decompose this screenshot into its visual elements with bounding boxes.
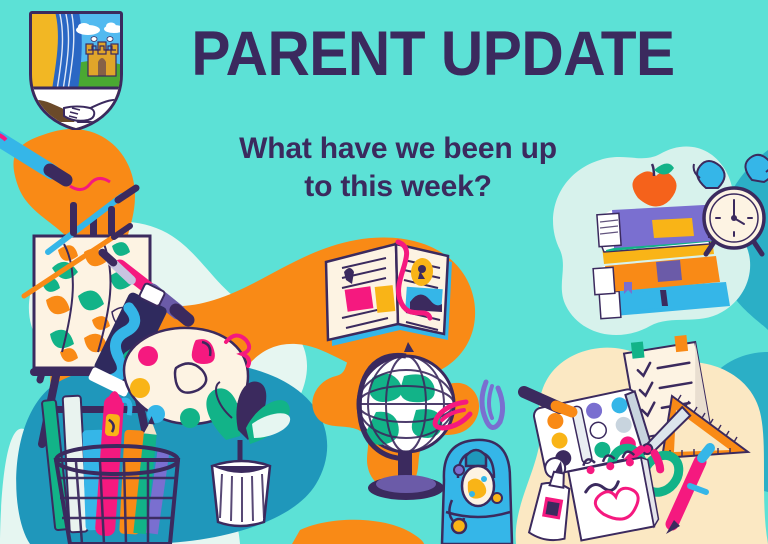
apple-illustration <box>632 163 676 206</box>
marker-cyan-illustration <box>0 134 110 189</box>
open-book-illustration <box>326 242 452 346</box>
backpack-illustration <box>442 440 512 544</box>
potted-plant-illustration <box>206 382 290 526</box>
illustration-layer <box>0 0 768 544</box>
parent-update-poster: PARENT UPDATE What have we been up to th… <box>0 0 768 544</box>
globe-illustration <box>358 342 454 500</box>
